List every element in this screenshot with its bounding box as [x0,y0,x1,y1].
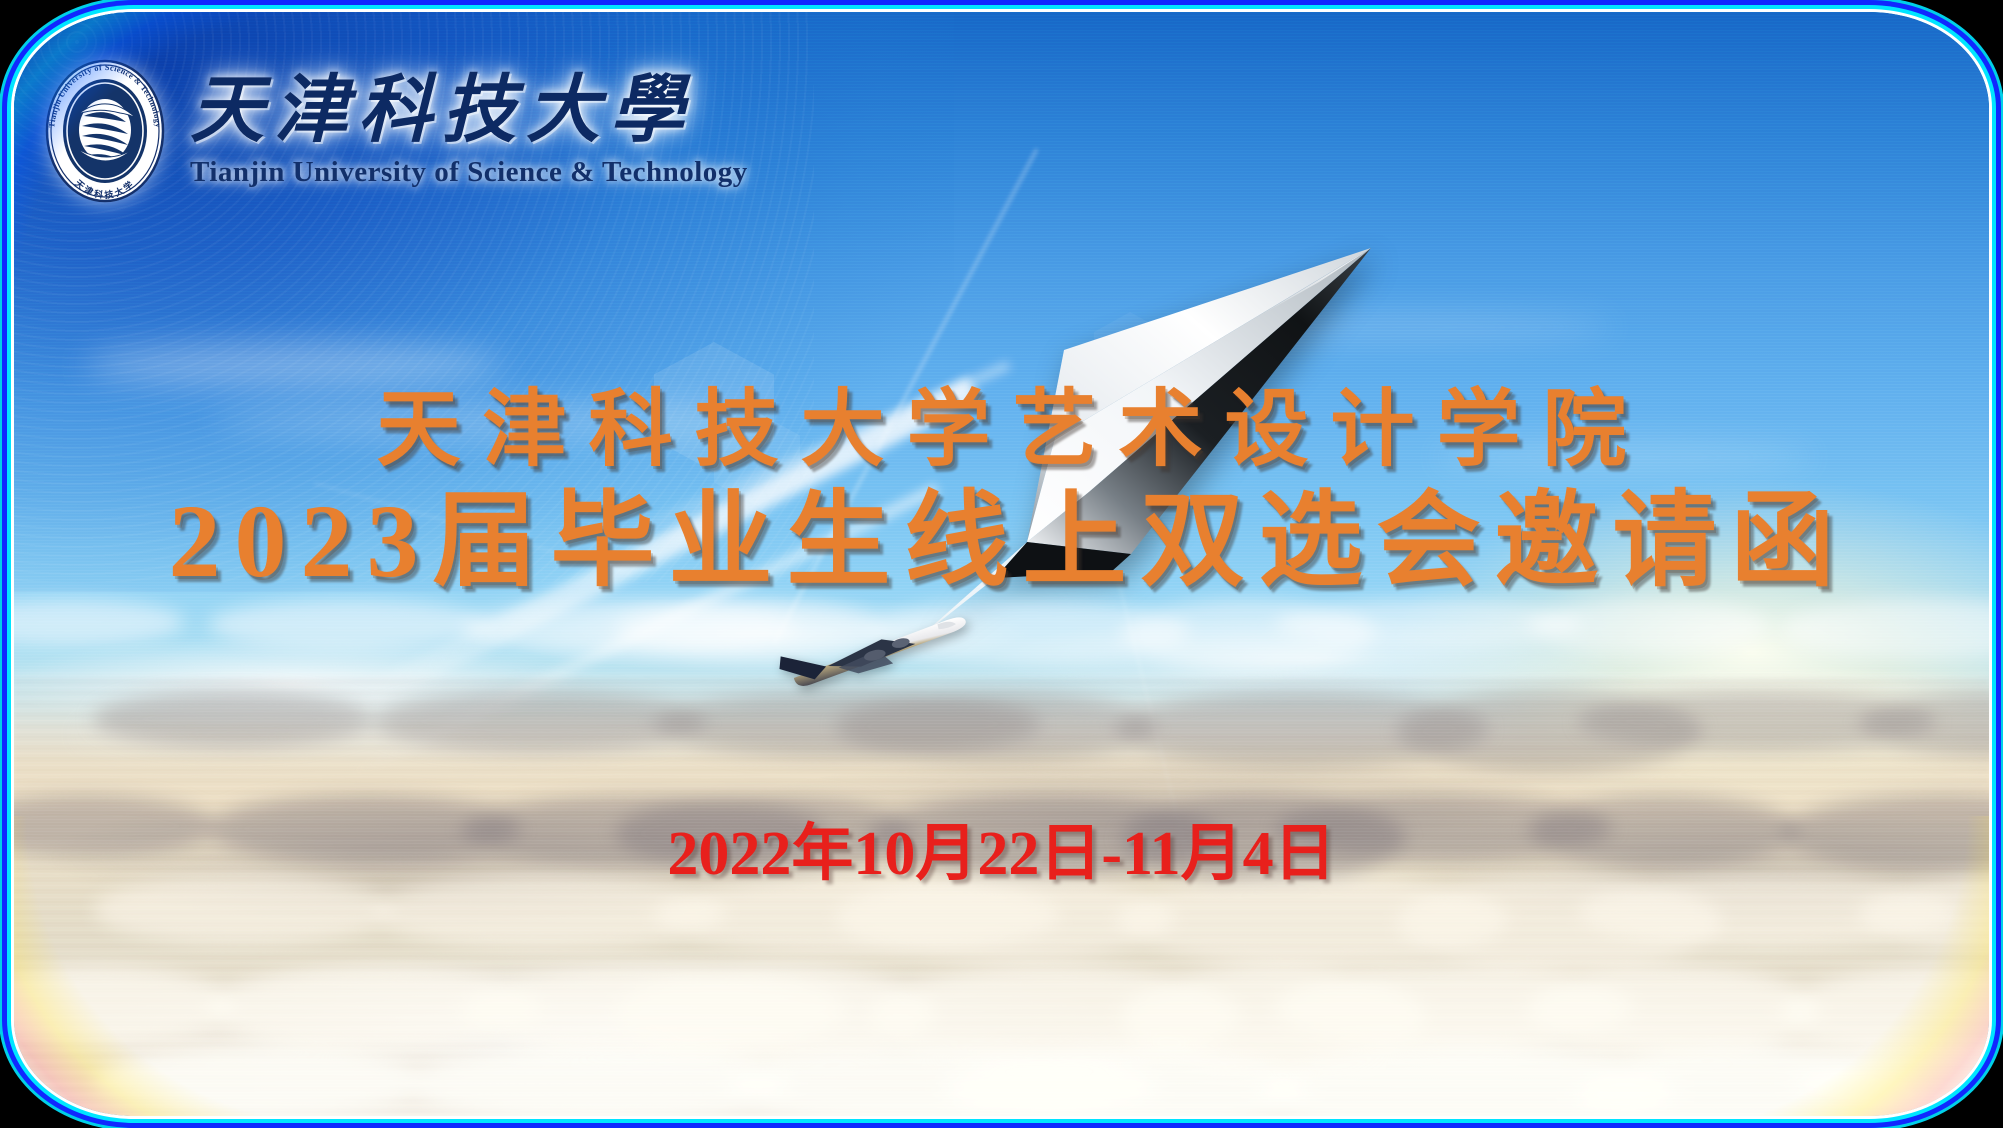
cloud-puff [14,599,185,645]
cloud-wisp [1434,444,1814,470]
cloud-puff [836,691,1155,762]
cloud-puff [1528,967,1819,1054]
cloud-puff [14,795,215,857]
logo-name-cn: 天津科技大學 [190,74,748,148]
cloud-puff [93,875,393,945]
cloud-puff [93,1047,423,1116]
cloud-puff [208,599,491,650]
cloud-puff [1781,795,1989,871]
airliner-icon [766,612,976,692]
cloud-puff [1528,599,1769,654]
university-seal-icon: Tianjin University of Science & Technolo… [42,56,168,206]
cloud-puff [14,967,235,1045]
cloud-puff [1781,967,1989,1059]
screenshot-canvas: Tianjin University of Science & Technolo… [0,0,2003,1128]
logo-wordmark: 天津科技大學 Tianjin University of Science & T… [190,74,748,189]
cloud-puff [1528,795,1799,866]
logo-name-en: Tianjin University of Science & Technolo… [190,156,748,189]
university-logo: Tianjin University of Science & Technolo… [42,56,748,206]
cloud-wisp [84,342,504,388]
invitation-poster: Tianjin University of Science & Technolo… [14,12,1989,1116]
cloud-puff [1781,599,1989,659]
cloud-puff [93,691,373,747]
paper-airplane-icon [759,242,1399,662]
